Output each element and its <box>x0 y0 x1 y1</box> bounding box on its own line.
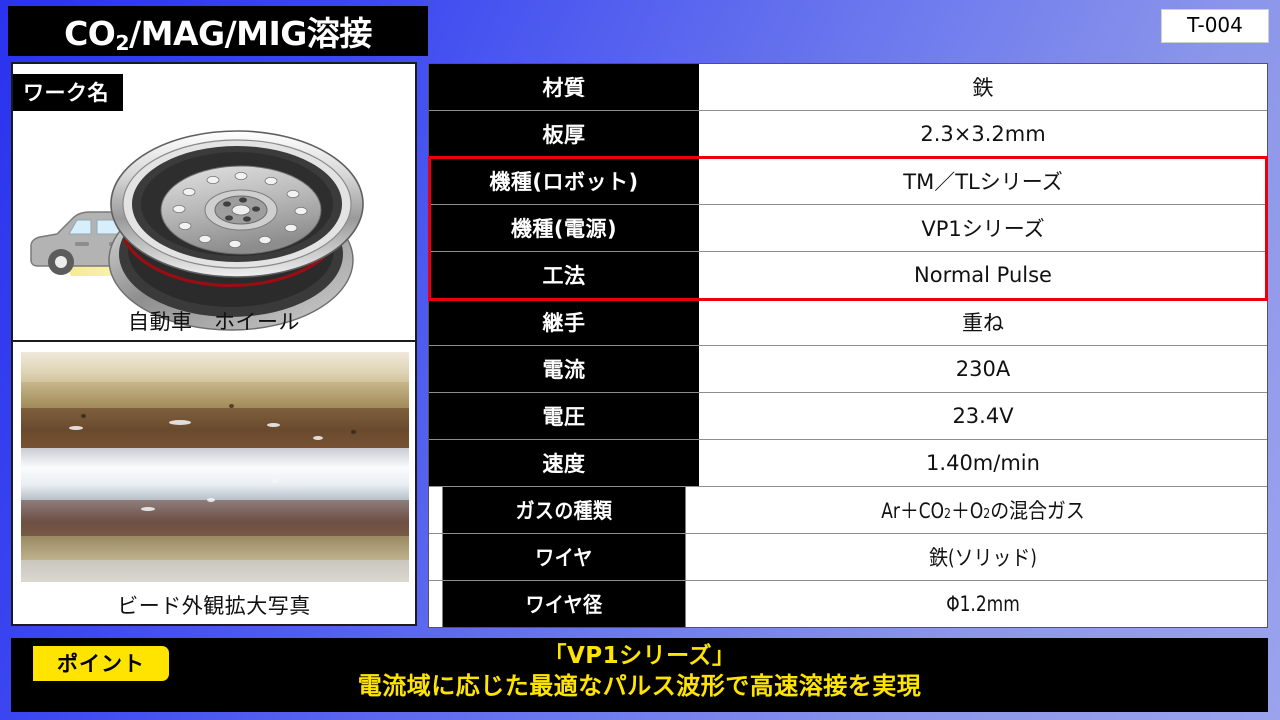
page-title: CO2/MAG/MIG溶接 <box>64 7 372 55</box>
point-message-line1: 「VP1シリーズ」 <box>11 642 1268 671</box>
spec-row-label: ワイヤ <box>443 534 686 580</box>
bead-band-top <box>21 352 409 386</box>
specification-table: 材質鉄板厚2.3×3.2mm機種(ロボット)TM／TLシリーズ機種(電源)VP1… <box>428 63 1268 628</box>
spec-row-label: 電流 <box>429 346 699 392</box>
spec-row-value: 23.4V <box>699 393 1267 439</box>
bead-spatter <box>267 423 280 427</box>
spec-row-label: 電圧 <box>429 393 699 439</box>
spec-row-label: 工法 <box>429 252 699 298</box>
wheel-upper-rim <box>111 131 363 277</box>
slide-root: CO2/MAG/MIG溶接 T-004 ワーク名 <box>0 0 1280 720</box>
point-message: 「VP1シリーズ」 電流域に応じた最適なパルス波形で高速溶接を実現 <box>11 642 1268 702</box>
spec-row-label: 板厚 <box>429 111 699 157</box>
page-title-rest: /MAG/MIG溶接 <box>129 14 372 53</box>
bead-spatter <box>69 426 83 430</box>
weld-bead-photo <box>21 352 409 582</box>
spec-row-label: 機種(電源) <box>429 205 699 251</box>
spec-row-label: 機種(ロボット) <box>429 158 699 204</box>
work-caption: 自動車 ホイール <box>13 306 415 336</box>
spec-row-value: 2.3×3.2mm <box>699 111 1267 157</box>
point-banner: ポイント 「VP1シリーズ」 電流域に応じた最適なパルス波形で高速溶接を実現 <box>11 638 1268 712</box>
bead-band-base <box>21 560 409 582</box>
spec-row: 速度1.40m/min <box>429 440 1267 487</box>
bead-spatter <box>207 498 215 502</box>
spec-row: 電流230A <box>429 346 1267 393</box>
spec-row-label: 継手 <box>429 299 699 345</box>
spec-row: ガスの種類Ar＋CO2＋O2の混合ガス <box>429 487 1267 534</box>
bead-spatter <box>169 420 191 425</box>
spec-row-value: Normal Pulse <box>699 252 1267 298</box>
bead-spatter <box>141 507 155 511</box>
work-name-tag: ワーク名 <box>13 74 123 111</box>
spec-row: 機種(ロボット)TM／TLシリーズ <box>429 158 1267 205</box>
spec-row: 機種(電源)VP1シリーズ <box>429 205 1267 252</box>
bead-band-dark <box>21 500 409 540</box>
bead-caption: ビード外観拡大写真 <box>13 590 415 620</box>
spec-row: 板厚2.3×3.2mm <box>429 111 1267 158</box>
spec-row-label: 速度 <box>429 440 699 486</box>
spec-row-label: ワイヤ径 <box>443 581 686 627</box>
spec-row-label: ガスの種類 <box>443 487 686 533</box>
slide-title-plate: CO2/MAG/MIG溶接 <box>8 6 428 56</box>
spec-row-value: VP1シリーズ <box>699 205 1267 251</box>
left-panel: ワーク名 <box>11 62 417 626</box>
bead-spatter <box>271 478 279 483</box>
spec-row-value: 230A <box>699 346 1267 392</box>
spec-row: ワイヤ径Φ1.2mm <box>429 581 1267 627</box>
spec-row: 工法Normal Pulse <box>429 252 1267 299</box>
bead-band-metal <box>21 448 409 504</box>
page-title-subscript: 2 <box>115 31 129 55</box>
spec-row: 継手重ね <box>429 299 1267 346</box>
bead-spatter <box>313 436 323 440</box>
spec-row: ワイヤ鉄(ソリッド) <box>429 534 1267 581</box>
spec-row-value: 鉄 <box>699 64 1267 110</box>
work-image-card: ワーク名 <box>13 64 415 342</box>
bead-pore <box>229 404 234 408</box>
point-message-line2: 電流域に応じた最適なパルス波形で高速溶接を実現 <box>11 671 1268 702</box>
bead-pore <box>81 414 86 418</box>
spec-row: 材質鉄 <box>429 64 1267 111</box>
document-code-badge: T-004 <box>1161 9 1269 43</box>
spec-row-value: TM／TLシリーズ <box>699 158 1267 204</box>
spec-row-value: 鉄(ソリッド) <box>727 534 1238 580</box>
spec-row: 電圧23.4V <box>429 393 1267 440</box>
bead-photo-card: ビード外観拡大写真 <box>13 342 415 624</box>
spec-row-value: Ar＋CO2＋O2の混合ガス <box>727 487 1238 533</box>
spec-row-value: Φ1.2mm <box>727 581 1238 627</box>
bead-pore <box>351 430 356 434</box>
spec-row-value: 1.40m/min <box>699 440 1267 486</box>
page-title-co: CO <box>64 14 115 53</box>
spec-row-label: 材質 <box>429 64 699 110</box>
spec-row-value: 重ね <box>699 299 1267 345</box>
